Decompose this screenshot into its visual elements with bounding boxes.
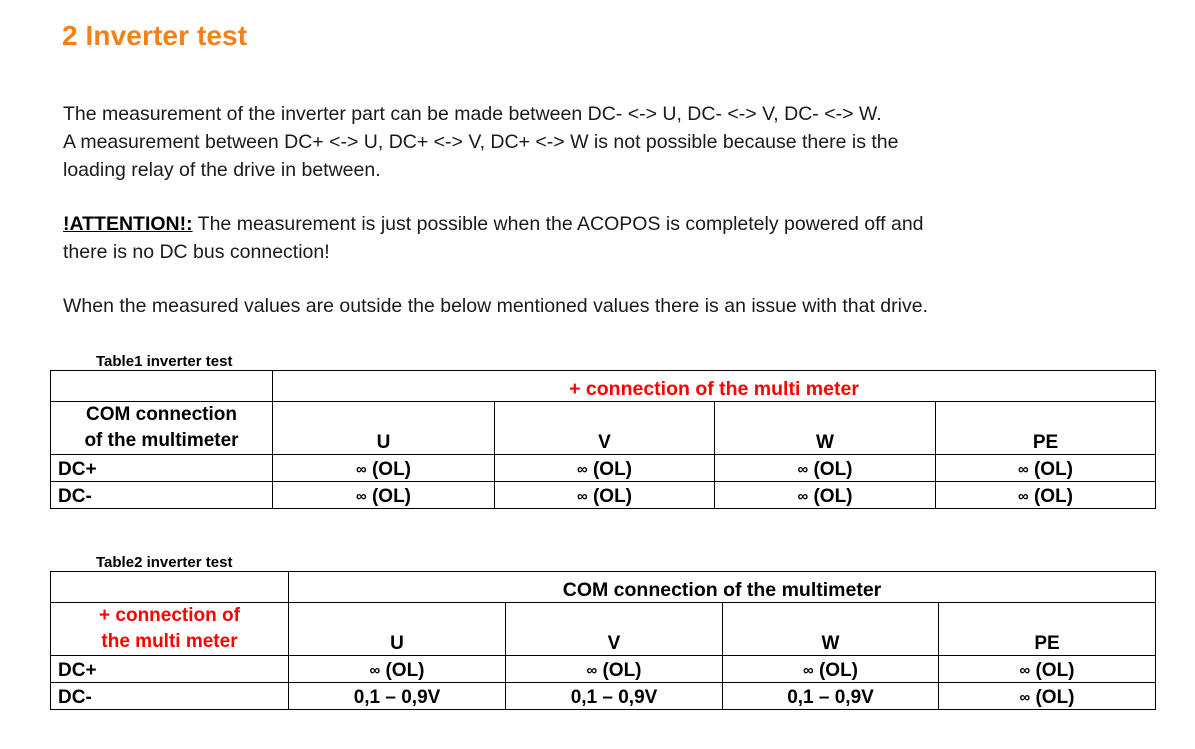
- table1-col-header-u: U: [273, 402, 495, 455]
- table-row: COM connection of the multimeter: [51, 572, 1156, 603]
- table2-corner-cell: [51, 572, 289, 603]
- table2-cell-dcminus-v: 0,1 – 0,9V: [506, 683, 723, 710]
- table2-spanning-header: COM connection of the multimeter: [289, 572, 1156, 603]
- table-row: + connection ofthe multi meter U V W PE: [51, 603, 1156, 656]
- table1-corner-cell: [51, 371, 273, 402]
- table-row: DC+ ∞ (OL) ∞ (OL) ∞ (OL) ∞ (OL): [51, 656, 1156, 683]
- table1-spanning-header: + connection of the multi meter: [273, 371, 1156, 402]
- table2-cell-dcplus-v: ∞ (OL): [506, 656, 723, 683]
- table1-cell-dcminus-v: ∞ (OL): [495, 482, 715, 509]
- attention-label: !ATTENTION!:: [63, 213, 193, 235]
- table1-col-header-w: W: [715, 402, 936, 455]
- table1-col-header-v: V: [495, 402, 715, 455]
- table2-cell-dcminus-w: 0,1 – 0,9V: [723, 683, 939, 710]
- table2-row-label-dcplus: DC+: [51, 656, 289, 683]
- document-page: 2 Inverter test The measurement of the i…: [0, 0, 1195, 749]
- table2-col-header-u: U: [289, 603, 506, 656]
- table2-cell-dcminus-u: 0,1 – 0,9V: [289, 683, 506, 710]
- paragraph-measurement-description: The measurement of the inverter part can…: [63, 100, 899, 184]
- table2-row-label-dcminus: DC-: [51, 683, 289, 710]
- table2-row-header-line1: + connection of: [99, 605, 240, 626]
- table1-cell-dcplus-pe: ∞ (OL): [936, 455, 1156, 482]
- table2-row-header-line2: the multi meter: [101, 631, 237, 652]
- table1-cell-dcminus-pe: ∞ (OL): [936, 482, 1156, 509]
- table2-caption: Table2 inverter test: [96, 554, 232, 571]
- table2-col-header-w: W: [723, 603, 939, 656]
- table-row: DC- 0,1 – 0,9V 0,1 – 0,9V 0,1 – 0,9V ∞ (…: [51, 683, 1156, 710]
- table-row: + connection of the multi meter: [51, 371, 1156, 402]
- table1-row-label-dcminus: DC-: [51, 482, 273, 509]
- table1-col-header-pe: PE: [936, 402, 1156, 455]
- table-row: DC- ∞ (OL) ∞ (OL) ∞ (OL) ∞ (OL): [51, 482, 1156, 509]
- table2-cell-dcplus-w: ∞ (OL): [723, 656, 939, 683]
- table2-cell-dcplus-pe: ∞ (OL): [939, 656, 1156, 683]
- table1-cell-dcminus-w: ∞ (OL): [715, 482, 936, 509]
- table2-row-header-label: + connection ofthe multi meter: [51, 603, 289, 656]
- table1-row-label-dcplus: DC+: [51, 455, 273, 482]
- paragraph-attention: !ATTENTION!: The measurement is just pos…: [63, 210, 924, 266]
- table1-cell-dcplus-v: ∞ (OL): [495, 455, 715, 482]
- page-title: 2 Inverter test: [62, 20, 247, 52]
- table2-cell-dcplus-u: ∞ (OL): [289, 656, 506, 683]
- table1-cell-dcminus-u: ∞ (OL): [273, 482, 495, 509]
- table2-cell-dcminus-pe: ∞ (OL): [939, 683, 1156, 710]
- table-row: COM connectionof the multimeter U V W PE: [51, 402, 1156, 455]
- table-inverter-test-1: + connection of the multi meter COM conn…: [50, 370, 1156, 509]
- table1-row-header-line1: COM connection: [86, 404, 237, 425]
- table2-col-header-pe: PE: [939, 603, 1156, 656]
- paragraph-out-of-range-note: When the measured values are outside the…: [63, 292, 928, 320]
- table-inverter-test-2: COM connection of the multimeter + conne…: [50, 571, 1156, 710]
- table1-cell-dcplus-w: ∞ (OL): [715, 455, 936, 482]
- attention-body: The measurement is just possible when th…: [63, 213, 924, 263]
- table1-cell-dcplus-u: ∞ (OL): [273, 455, 495, 482]
- table1-row-header-line2: of the multimeter: [84, 430, 238, 451]
- table-row: DC+ ∞ (OL) ∞ (OL) ∞ (OL) ∞ (OL): [51, 455, 1156, 482]
- table1-row-header-label: COM connectionof the multimeter: [51, 402, 273, 455]
- table2-col-header-v: V: [506, 603, 723, 656]
- table1-caption: Table1 inverter test: [96, 353, 232, 370]
